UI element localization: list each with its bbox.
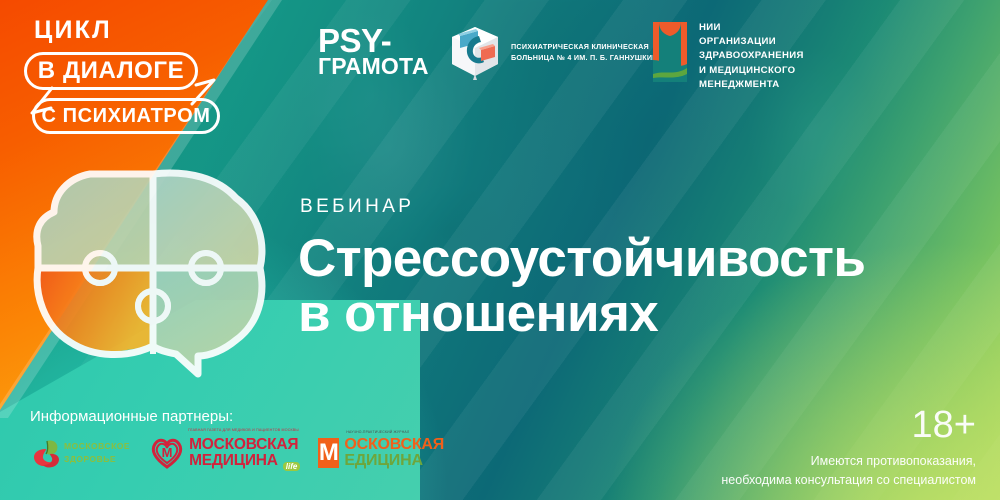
bubble-s-psihiatrom-label: С ПСИХИАТРОМ (41, 105, 210, 128)
title-line1: Стрессоустойчивость (298, 232, 938, 287)
partner-logo-moskovskoe-zdorovie[interactable]: МОСКОВСКОЕ ЗДОРОВЬЕ (30, 435, 130, 471)
hospital-logo: ПСИХИАТРИЧЕСКАЯ КЛИНИЧЕСКАЯ БОЛЬНИЦА № 4… (448, 24, 663, 80)
mm-life-badge: life (283, 462, 301, 471)
brain-puzzle-speech-bubble-icon (28, 168, 278, 378)
hospital-text-line2: БОЛЬНИЦА № 4 ИМ. П. Б. ГАННУШКИНА (511, 52, 663, 63)
nii-book-icon (651, 20, 689, 84)
partner-logo-moskovskaya-meditsina-life[interactable]: M ГЛАВНАЯ ГАЗЕТА ДЛЯ МЕДИКОВ И ПАЦИЕНТОВ… (150, 436, 298, 470)
leaf-heart-icon (30, 435, 64, 471)
partner-logo-moskovskaya-meditsina-journal[interactable]: НАУЧНО-ПРАКТИЧЕСКИЙ ЖУРНАЛ М ОСКОВСКАЯ Е… (318, 437, 444, 469)
disclaimer-line1: Имеются противопоказания, (721, 452, 976, 471)
nii-logo-text: НИИ ОРГАНИЗАЦИИ ЗДРАВООХРАНЕНИЯ И МЕДИЦИ… (699, 20, 804, 92)
svg-text:M: M (162, 445, 173, 460)
partner-moskovskaya-meditsina-life-text: МОСКОВСКАЯ МЕДИЦИНА (189, 437, 298, 469)
nii-logo: НИИ ОРГАНИЗАЦИИ ЗДРАВООХРАНЕНИЯ И МЕДИЦИ… (651, 20, 804, 92)
nii-text-line2: ОРГАНИЗАЦИИ (699, 35, 804, 49)
page-title: Стрессоустойчивость в отношениях (298, 232, 938, 341)
age-rating-badge: 18+ (912, 404, 976, 447)
psy-logo-line1: PSY- (318, 26, 429, 56)
disclaimer-text: Имеются противопоказания, необходима кон… (721, 452, 976, 491)
mz-line1: МОСКОВСКОЕ (64, 440, 130, 453)
title-line2: в отношениях (298, 287, 938, 342)
kicker-label: ВЕБИНАР (300, 196, 414, 218)
heart-m-icon: M (150, 436, 184, 470)
disclaimer-line2: необходима консультация со специалистом (721, 471, 976, 490)
nii-text-line3: ЗДРАВООХРАНЕНИЯ (699, 49, 804, 63)
partner-moskovskaya-meditsina-journal-text: ОСКОВСКАЯ ЕДИЦИНА (344, 437, 444, 469)
hospital-text-line1: ПСИХИАТРИЧЕСКАЯ КЛИНИЧЕСКАЯ (511, 41, 663, 52)
psy-gramota-logo: PSY- ГРАМОТА (318, 26, 429, 78)
nii-text-line1: НИИ (699, 21, 804, 35)
mm-line1: МОСКОВСКАЯ (189, 437, 298, 453)
bubble-v-dialoge-label: В ДИАЛОГЕ (38, 57, 185, 85)
partners-list: МОСКОВСКОЕ ЗДОРОВЬЕ M ГЛАВНАЯ ГАЗЕТА ДЛЯ… (30, 435, 444, 471)
mz-line2: ЗДОРОВЬЕ (64, 453, 130, 466)
cycle-label: ЦИКЛ (34, 16, 112, 45)
hospital-cube-icon (448, 24, 502, 80)
mm-life-top-line: ГЛАВНАЯ ГАЗЕТА ДЛЯ МЕДИКОВ И ПАЦИЕНТОВ М… (188, 428, 299, 432)
bubble-s-psihiatrom: С ПСИХИАТРОМ (32, 98, 220, 134)
nii-text-line5: МЕНЕДЖМЕНТА (699, 78, 804, 92)
partner-moskovskoe-zdorovie-text: МОСКОВСКОЕ ЗДОРОВЬЕ (64, 440, 130, 466)
mm-journal-line1: ОСКОВСКАЯ (344, 437, 444, 453)
mm-journal-top-line: НАУЧНО-ПРАКТИЧЕСКИЙ ЖУРНАЛ (346, 430, 409, 434)
hospital-logo-text: ПСИХИАТРИЧЕСКАЯ КЛИНИЧЕСКАЯ БОЛЬНИЦА № 4… (511, 41, 663, 63)
mm-journal-letter-block: М (318, 438, 339, 468)
mm-journal-line2: ЕДИЦИНА (344, 453, 444, 469)
nii-text-line4: И МЕДИЦИНСКОГО (699, 64, 804, 78)
partners-label: Информационные партнеры: (30, 408, 233, 425)
mm-line2: МЕДИЦИНА (189, 453, 298, 469)
webinar-poster: ЦИКЛ В ДИАЛОГЕ С ПСИХИАТРОМ PSY- ГРАМОТА (0, 0, 1000, 500)
bubble-v-dialoge: В ДИАЛОГЕ (24, 52, 198, 90)
psy-logo-line2: ГРАМОТА (318, 56, 429, 77)
